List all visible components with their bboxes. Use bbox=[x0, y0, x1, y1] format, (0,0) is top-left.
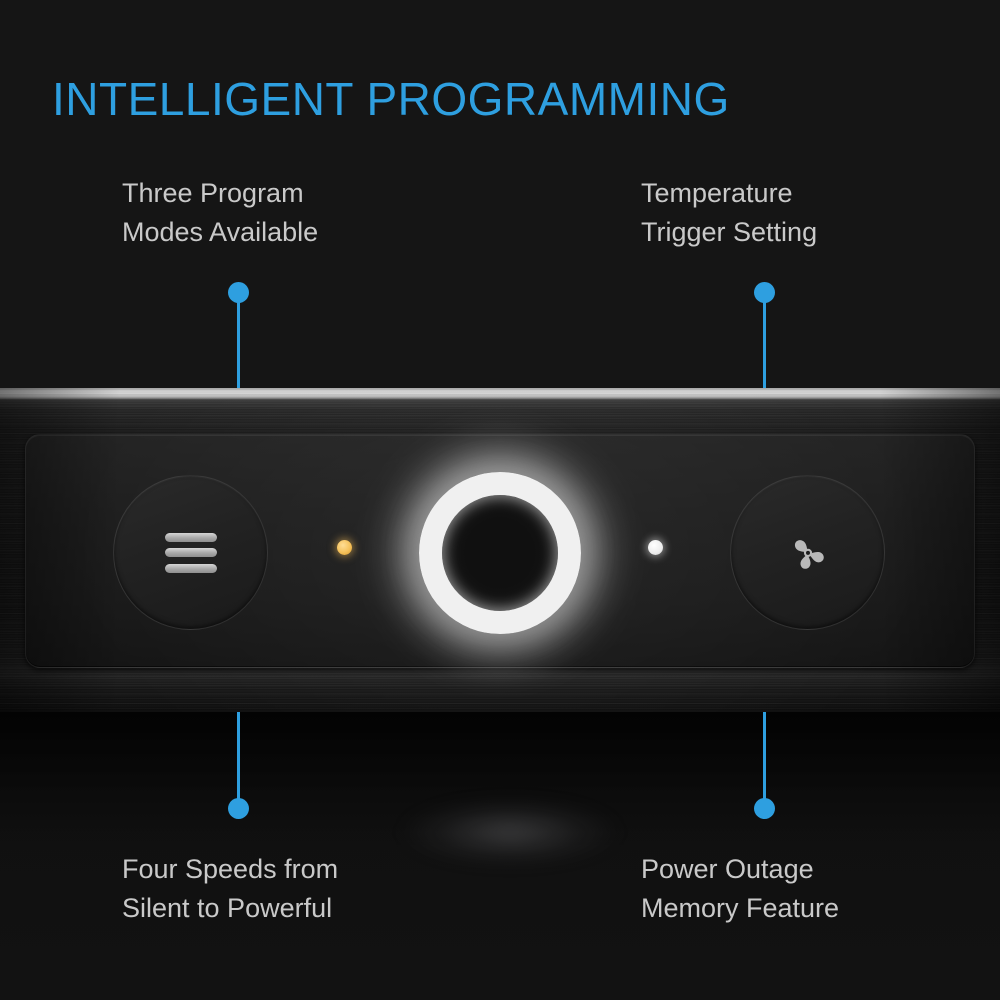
leader-line-top-right bbox=[763, 292, 766, 392]
page-title: INTELLIGENT PROGRAMMING bbox=[52, 72, 730, 126]
callout-label-top-right: Temperature Trigger Setting bbox=[641, 174, 817, 252]
leader-line-top-left bbox=[237, 292, 240, 392]
leader-dot-bottom-left bbox=[228, 798, 249, 819]
leader-line-bottom-right bbox=[763, 712, 766, 812]
fan-speed-button[interactable] bbox=[730, 475, 885, 630]
callout-label-bottom-right: Power Outage Memory Feature bbox=[641, 850, 839, 928]
leader-dot-bottom-right bbox=[754, 798, 775, 819]
fan-propeller-icon bbox=[776, 521, 840, 585]
led-indicator-right bbox=[648, 540, 663, 555]
background-bottom-highlight bbox=[400, 800, 620, 864]
leader-line-bottom-left bbox=[237, 712, 240, 812]
hamburger-menu-icon bbox=[165, 533, 217, 573]
callout-label-bottom-left: Four Speeds from Silent to Powerful bbox=[122, 850, 338, 928]
leader-dot-top-left bbox=[228, 282, 249, 303]
product-feature-graphic: INTELLIGENT PROGRAMMING Three Program Mo… bbox=[0, 0, 1000, 1000]
callout-label-top-left: Three Program Modes Available bbox=[122, 174, 318, 252]
mode-button[interactable] bbox=[113, 475, 268, 630]
leader-dot-top-right bbox=[754, 282, 775, 303]
power-button[interactable] bbox=[419, 472, 581, 634]
led-indicator-left bbox=[337, 540, 352, 555]
